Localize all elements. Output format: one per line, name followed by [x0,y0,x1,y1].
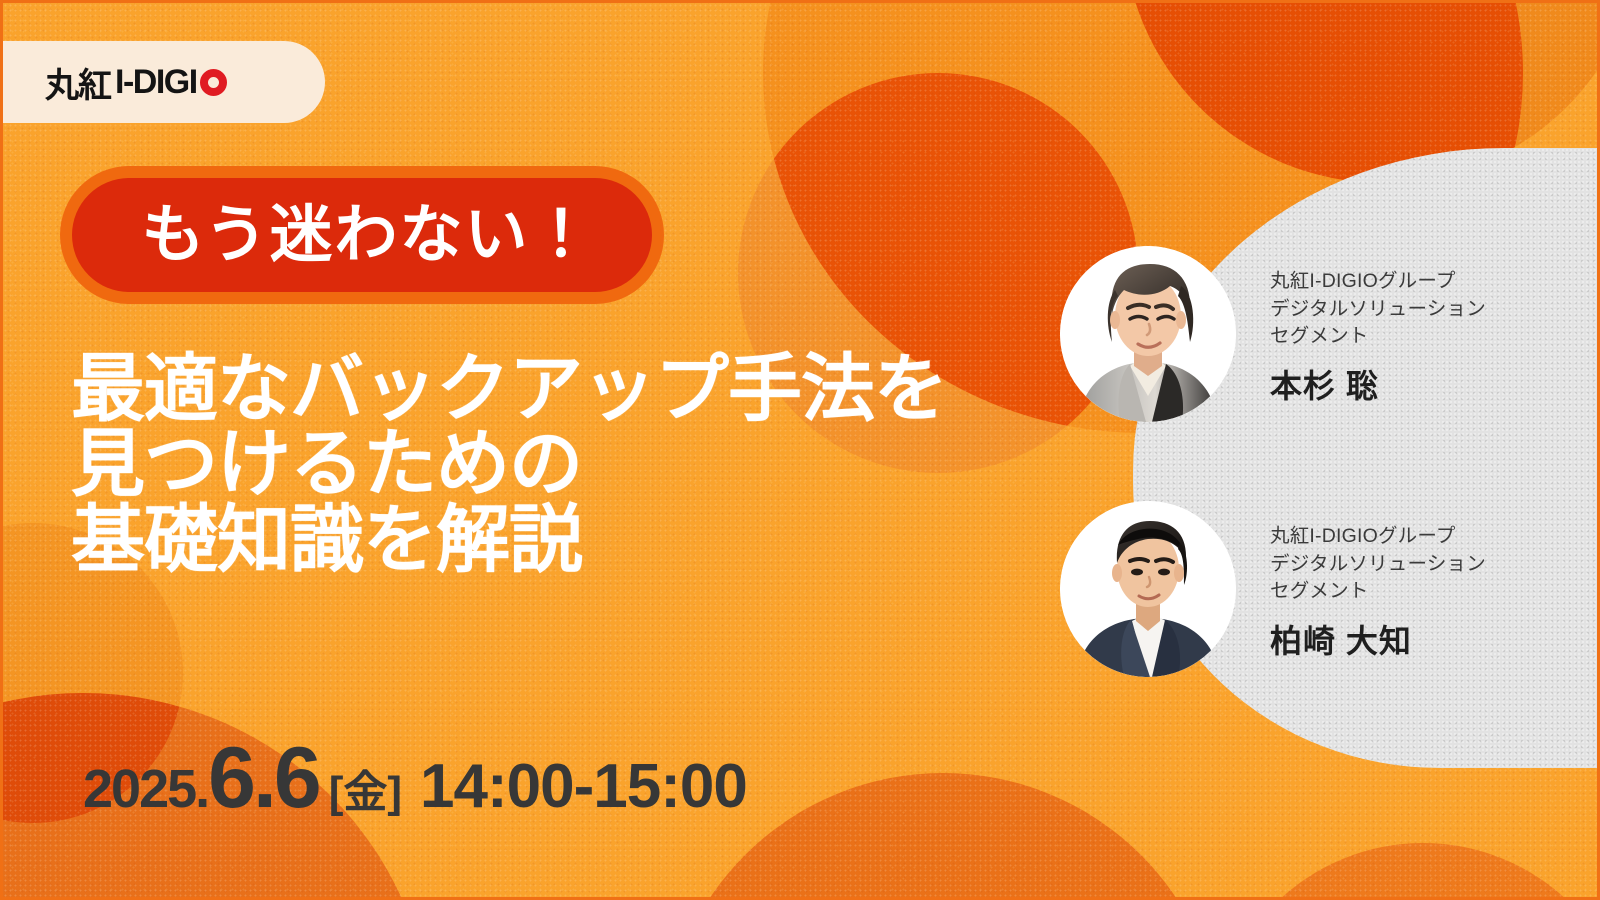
catchphrase-text: もう迷わない！ [129,204,594,267]
schedule-day-of-week: [金] [329,756,402,820]
speaker-affiliation-line-3: セグメント [1270,578,1486,606]
headline-line-1: 最適なバックアップ手法を [71,351,947,426]
background-circle-bottom-center [663,773,1223,897]
schedule: 2025 . 6.6 [金] 14:00-15:00 [83,729,747,828]
logo-wordmark: 丸紅 I-DIGI [45,58,227,107]
speaker-meta-1: 丸紅I-DIGIOグループ デジタルソリューション セグメント 本杉 聡 [1270,246,1486,407]
schedule-year: 2025 [83,758,195,820]
logo-o-ring-icon [200,69,227,96]
speaker-affiliation-line-3: セグメント [1270,323,1486,351]
catchphrase-badge-inner: もう迷わない！ [72,178,652,292]
headline-line-2: 見つけるための [71,426,947,501]
speaker-name-1: 本杉 聡 [1270,361,1486,407]
speaker-affiliation-line-2: デジタルソリューション [1270,551,1486,579]
headline-line-3: 基礎知識を解説 [71,502,947,577]
schedule-time: 14:00-15:00 [420,751,747,822]
speaker-meta-2: 丸紅I-DIGIOグループ デジタルソリューション セグメント 柏崎 大知 [1270,501,1486,662]
speaker-affiliation-line-1: 丸紅I-DIGIOグループ [1270,268,1486,296]
logo-latin-text: I-DIGI [115,63,197,102]
speaker-portrait-icon-2 [1060,501,1236,677]
background-circle-bottom-right [1213,843,1597,897]
speaker-card-2: 丸紅I-DIGIOグループ デジタルソリューション セグメント 柏崎 大知 [1060,501,1486,677]
speaker-card-1: 丸紅I-DIGIOグループ デジタルソリューション セグメント 本杉 聡 [1060,246,1486,422]
page-title: 最適なバックアップ手法を 見つけるための 基礎知識を解説 [71,351,947,577]
webinar-banner: 丸紅 I-DIGI もう迷わない！ 最適なバックアップ手法を 見つけるための 基… [0,0,1600,900]
speaker-name-2: 柏崎 大知 [1270,616,1486,662]
catchphrase-badge: もう迷わない！ [60,166,664,304]
speaker-affiliation-line-2: デジタルソリューション [1270,296,1486,324]
speaker-affiliation-line-1: 丸紅I-DIGIOグループ [1270,523,1486,551]
schedule-month-day: 6.6 [208,729,319,828]
logo-japanese-text: 丸紅 [45,58,111,107]
brand-logo[interactable]: 丸紅 I-DIGI [3,41,325,123]
speaker-portrait-icon-1 [1060,246,1236,422]
